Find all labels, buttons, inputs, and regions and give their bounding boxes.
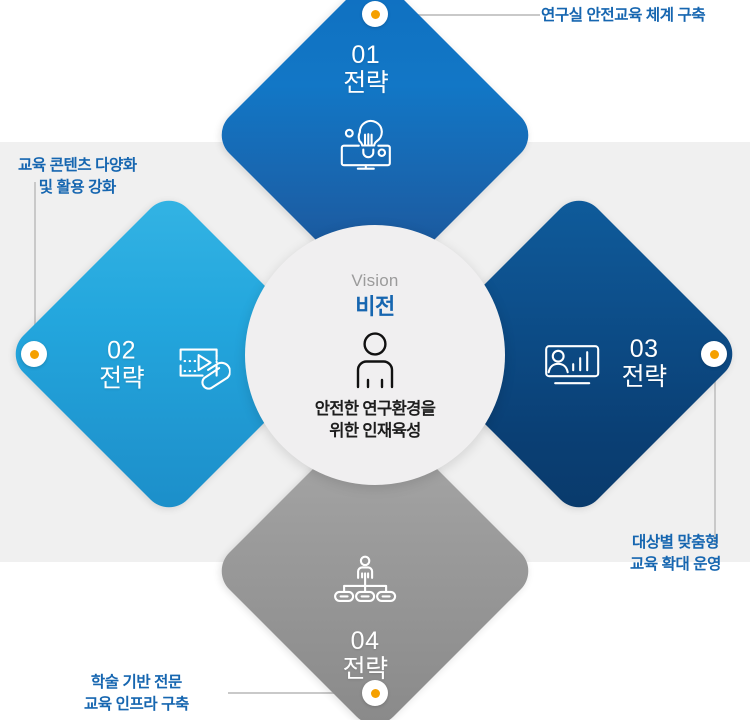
- person-icon: [352, 330, 398, 395]
- strategy-03-label: 대상별 맞춤형 교육 확대 운영: [630, 532, 721, 577]
- strategy-03-text: 03 전략: [622, 335, 667, 391]
- strategy-01-word: 전략: [343, 69, 388, 97]
- strategy-01-label-line-1: 연구실 안전교육 체계 구축: [541, 5, 705, 27]
- connector-dot-strategy-03[interactable]: [701, 341, 727, 367]
- strategy-04-number: 04: [343, 627, 388, 655]
- presentation-chart-person-icon: [536, 330, 610, 397]
- strategy-03-number: 03: [622, 335, 667, 363]
- strategy-02-number: 02: [99, 337, 144, 365]
- vision-label-ko: 비전: [355, 293, 394, 321]
- vision-strategy-diagram: 01 전략 02 전략: [0, 0, 750, 720]
- strategy-04-label-line-1: 학술 기반 전문: [84, 672, 189, 694]
- strategy-03-label-line-1: 대상별 맞춤형: [630, 532, 721, 554]
- strategy-04-label-line-2: 교육 인프라 구축: [84, 694, 189, 716]
- org-chart-icon: [331, 552, 399, 615]
- vision-description: 안전한 연구환경을 위한 인재육성: [315, 399, 436, 442]
- strategy-04-label: 학술 기반 전문 교육 인프라 구축: [84, 672, 189, 717]
- strategy-02-text: 02 전략: [99, 337, 144, 393]
- strategy-04-text: 04 전략: [343, 627, 388, 683]
- vision-label-en: Vision: [351, 272, 398, 291]
- strategy-03-label-line-2: 교육 확대 운영: [630, 554, 721, 576]
- video-attachment-icon: [158, 331, 230, 398]
- strategy-02-word: 전략: [99, 365, 144, 393]
- strategy-01-number: 01: [343, 41, 388, 69]
- connector-dot-strategy-02[interactable]: [21, 341, 47, 367]
- connector-dot-strategy-04[interactable]: [362, 680, 388, 706]
- strategy-03-word: 전략: [622, 363, 667, 391]
- vision-description-line-2: 위한 인재육성: [315, 421, 436, 442]
- strategy-02-label-line-1: 교육 콘텐츠 다양화: [18, 155, 137, 177]
- lightbulb-monitor-icon: [330, 111, 402, 176]
- strategy-02-label: 교육 콘텐츠 다양화 및 활용 강화: [18, 155, 137, 200]
- connector-dot-strategy-01[interactable]: [362, 1, 388, 27]
- strategy-01-label: 연구실 안전교육 체계 구축: [541, 5, 705, 27]
- strategy-01-text: 01 전략: [343, 41, 388, 97]
- strategy-04-word: 전략: [343, 655, 388, 683]
- vision-description-line-1: 안전한 연구환경을: [315, 399, 436, 420]
- vision-circle: Vision 비전 안전한 연구환경을 위한 인재육성: [245, 225, 505, 485]
- strategy-02-label-line-2: 및 활용 강화: [18, 177, 137, 199]
